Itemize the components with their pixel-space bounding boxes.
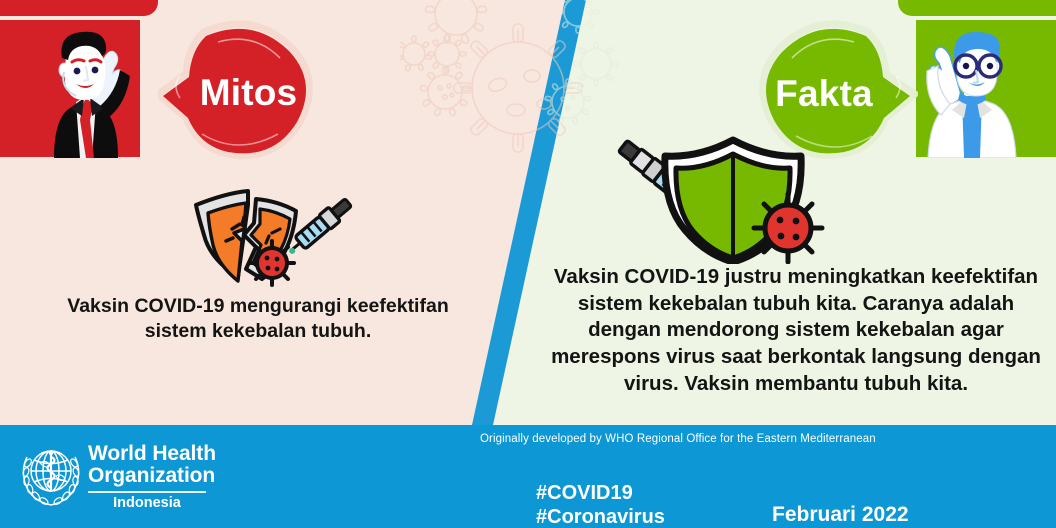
footer-credit-text: Originally developed by WHO Regional Off… xyxy=(480,433,876,445)
protected-shield-icon xyxy=(605,124,855,264)
who-logo-line1: World Health xyxy=(88,443,216,465)
who-logo-line2: Organization xyxy=(88,465,216,487)
who-logo-country: Indonesia xyxy=(88,495,206,511)
who-logo-wordmark: World Health Organization Indonesia xyxy=(88,443,216,511)
who-logo: World Health Organization Indonesia xyxy=(18,441,218,513)
infographic-poster: Mitos Fakta xyxy=(0,0,1056,528)
myth-body-text: Vaksin COVID-19 mengurangi keefektifan s… xyxy=(58,294,458,345)
doctor-pointing-illustration xyxy=(904,22,1040,158)
who-emblem-icon xyxy=(18,443,84,509)
myth-badge-label: Mitos xyxy=(158,18,323,168)
hashtag-block: #COVID19 #Coronavirus xyxy=(536,481,665,528)
hashtag-coronavirus: #Coronavirus xyxy=(536,505,665,528)
fact-body-text: Vaksin COVID-19 justru meningkatkan keef… xyxy=(548,264,1044,397)
hashtag-covid19: #COVID19 xyxy=(536,481,665,505)
footer-bar: Originally developed by WHO Regional Off… xyxy=(0,425,1056,528)
who-logo-divider xyxy=(88,491,206,493)
top-right-green-tab xyxy=(898,0,1056,16)
myth-badge-bubble: Mitos xyxy=(158,18,323,168)
broken-shield-icon xyxy=(180,183,380,295)
top-left-red-tab xyxy=(0,0,158,16)
publication-date: Februari 2022 xyxy=(772,503,909,527)
man-pointing-illustration xyxy=(24,22,152,158)
